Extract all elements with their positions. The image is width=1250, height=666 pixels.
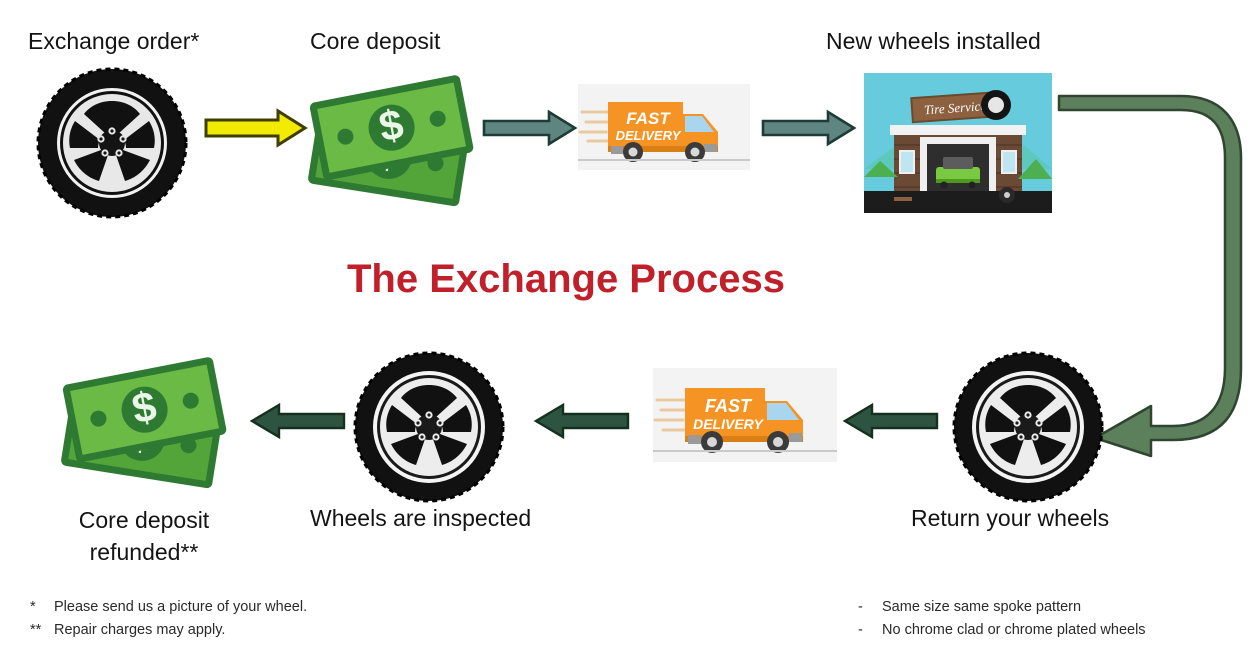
page-title: The Exchange Process xyxy=(347,257,785,302)
label-exchange-order: Exchange order* xyxy=(28,27,199,55)
label-core-deposit-refunded-line2: refunded** xyxy=(90,539,199,565)
arrow-return-to-shipping xyxy=(842,404,938,438)
truck-text-fast: FAST xyxy=(626,109,671,128)
tire-service-shop-icon: Tire Service xyxy=(864,73,1052,213)
footnotes-right: - Same size same spoke pattern - No chro… xyxy=(858,596,1146,642)
label-return-your-wheels: Return your wheels xyxy=(911,504,1109,532)
footnote-text: Repair charges may apply. xyxy=(54,619,225,642)
truck-text-delivery: DELIVERY xyxy=(616,128,682,143)
arrow-inspect-to-refund xyxy=(249,404,345,438)
footnote-text: Same size same spoke pattern xyxy=(882,596,1081,619)
footnote-left-2: ** Repair charges may apply. xyxy=(30,619,307,642)
footnotes-left: * Please send us a picture of your wheel… xyxy=(30,596,307,642)
arrow-shipping-to-inspect xyxy=(533,404,629,438)
footnote-text: Please send us a picture of your wheel. xyxy=(54,596,307,619)
footnote-right-1: - Same size same spoke pattern xyxy=(858,596,1146,619)
wheel-icon-exchange-order xyxy=(36,68,188,218)
money-icon-core-deposit: $ $ xyxy=(305,70,480,205)
wheel-icon-return-your-wheels xyxy=(952,352,1104,502)
delivery-truck-icon-shipping-back: FAST DELIVERY xyxy=(653,368,837,462)
arrow-deposit-to-shipping xyxy=(483,110,577,146)
arrow-order-to-deposit xyxy=(204,108,308,148)
label-wheels-are-inspected: Wheels are inspected xyxy=(310,504,531,532)
label-core-deposit-refunded: Core deposit refunded** xyxy=(44,504,244,568)
exchange-process-diagram: Exchange order* Core deposit New wheels … xyxy=(0,0,1250,666)
footnote-mark: * xyxy=(30,596,54,619)
footnote-left-1: * Please send us a picture of your wheel… xyxy=(30,596,307,619)
label-core-deposit: Core deposit xyxy=(310,27,440,55)
truck-text-fast: FAST xyxy=(705,396,753,416)
footnote-mark: - xyxy=(858,619,882,642)
truck-text-delivery: DELIVERY xyxy=(693,416,764,432)
delivery-truck-icon-shipping-out: FAST DELIVERY xyxy=(578,84,750,170)
money-icon-core-deposit-refunded: $ $ xyxy=(58,352,233,487)
arrow-shipping-to-install xyxy=(762,110,856,146)
wheel-icon-wheels-inspected xyxy=(353,352,505,502)
label-new-wheels-installed: New wheels installed xyxy=(826,27,1041,55)
footnote-right-2: - No chrome clad or chrome plated wheels xyxy=(858,619,1146,642)
footnote-text: No chrome clad or chrome plated wheels xyxy=(882,619,1146,642)
footnote-mark: - xyxy=(858,596,882,619)
label-core-deposit-refunded-line1: Core deposit xyxy=(79,507,209,533)
footnote-mark: ** xyxy=(30,619,54,642)
